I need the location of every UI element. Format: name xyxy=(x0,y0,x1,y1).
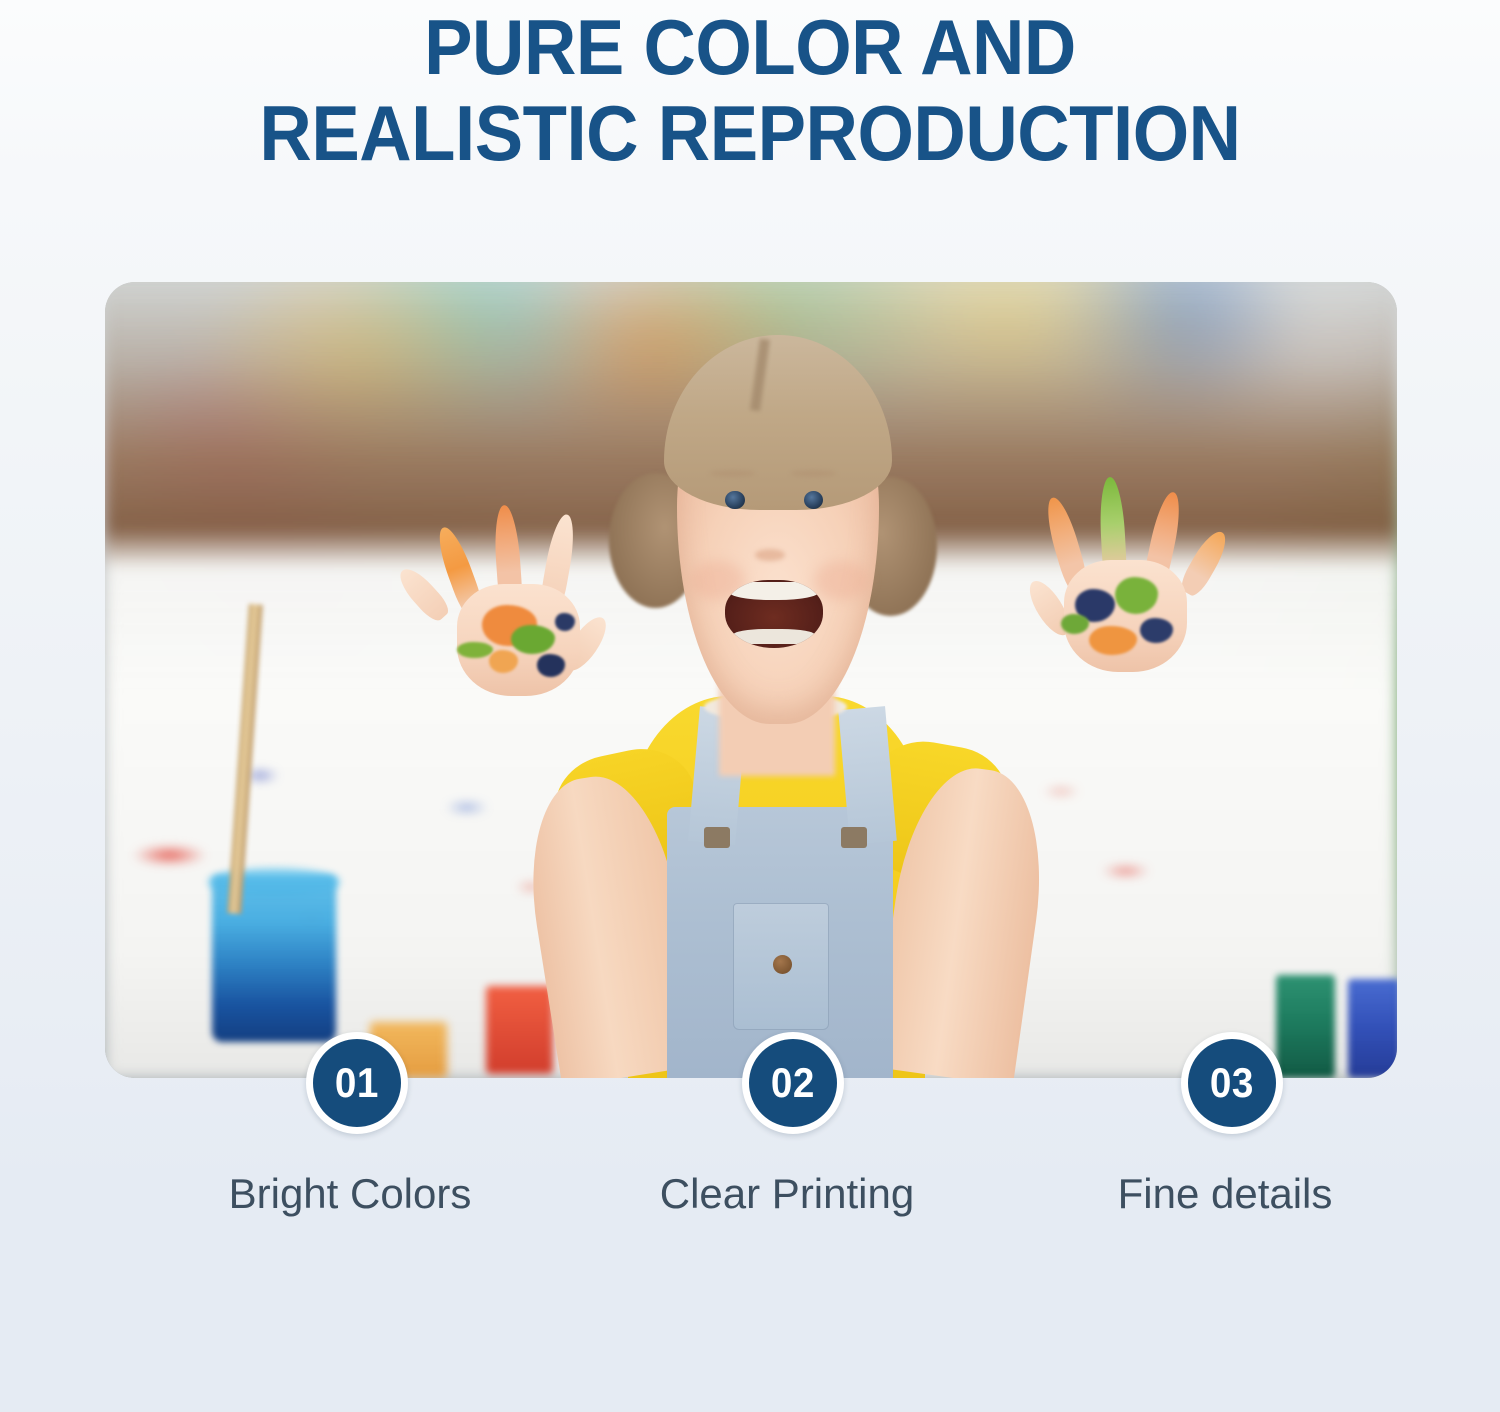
painted-hand-left xyxy=(428,497,609,704)
open-smiling-mouth xyxy=(725,580,823,648)
feature-label-02: Clear Printing xyxy=(587,1168,987,1220)
feature-badge-01[interactable]: 01 xyxy=(306,1032,408,1134)
hair xyxy=(664,335,891,510)
cheek-right xyxy=(814,561,868,601)
overalls-buckle-left xyxy=(704,827,730,848)
eye-left xyxy=(725,491,744,509)
overalls-button xyxy=(773,955,792,974)
promo-page: PURE COLOR AND REALISTIC REPRODUCTION xyxy=(0,0,1500,1412)
lower-teeth xyxy=(733,629,815,644)
paint-blob-navy xyxy=(1140,618,1173,643)
nose xyxy=(755,549,785,561)
feature-badge-02[interactable]: 02 xyxy=(742,1032,844,1134)
feature-badge-03[interactable]: 03 xyxy=(1181,1032,1283,1134)
finger xyxy=(393,563,452,625)
eye-right xyxy=(804,491,823,509)
eyebrow-right xyxy=(791,470,836,477)
child-figure xyxy=(105,282,1397,1078)
overalls-buckle-right xyxy=(841,827,867,848)
feature-badge-number: 03 xyxy=(1210,1062,1254,1104)
upper-teeth xyxy=(729,582,819,600)
feature-label-03: Fine details xyxy=(1025,1168,1425,1220)
feature-badge-number: 01 xyxy=(335,1062,379,1104)
eyebrow-left xyxy=(710,470,755,477)
page-title: PURE COLOR AND REALISTIC REPRODUCTION xyxy=(53,0,1448,176)
painted-hand-right xyxy=(1035,473,1216,680)
feature-badge-number: 02 xyxy=(771,1062,815,1104)
page-title-line-2: REALISTIC REPRODUCTION xyxy=(53,90,1448,176)
feature-label-01: Bright Colors xyxy=(150,1168,550,1220)
page-title-line-1: PURE COLOR AND xyxy=(53,0,1448,90)
hero-photo xyxy=(105,282,1397,1078)
